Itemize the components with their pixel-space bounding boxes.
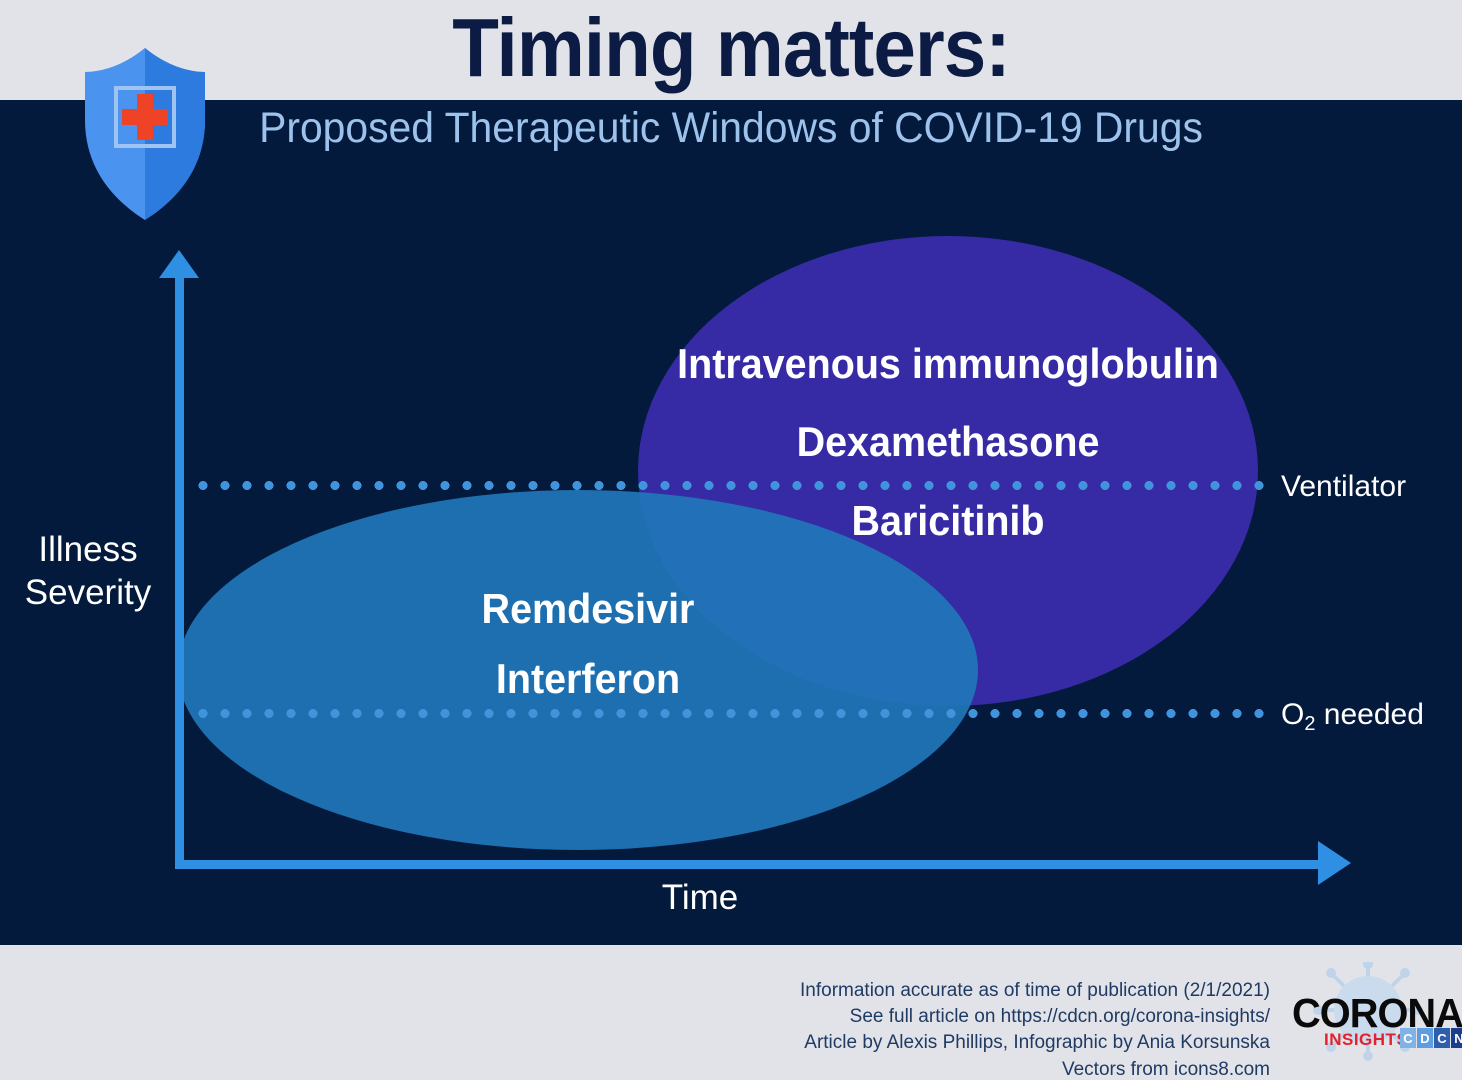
footer-credits: Information accurate as of time of publi… xyxy=(800,978,1270,1080)
logo-badge-n: N xyxy=(1451,1028,1462,1048)
y-axis-title-line2: Severity xyxy=(8,571,168,614)
o2-prefix: O xyxy=(1281,698,1304,731)
credit-line-article-url: See full article on https://cdcn.org/cor… xyxy=(800,1004,1270,1030)
logo-tagline: INSIGHTS xyxy=(1324,1030,1408,1050)
x-axis-line xyxy=(175,860,1321,869)
corona-insights-logo[interactable]: CORONA INSIGHTS C D C N xyxy=(1286,962,1456,1062)
logo-badge-c1: C xyxy=(1400,1028,1416,1048)
y-axis-arrow-icon xyxy=(159,250,199,278)
logo-badge-c2: C xyxy=(1434,1028,1450,1048)
drug-label-dexamethasone: Dexamethasone xyxy=(666,418,1230,466)
threshold-label-o2-needed: O2 needed xyxy=(1281,698,1424,732)
infographic-canvas: Ventilator O2 needed Illness Severity Ti… xyxy=(0,0,1462,1080)
logo-badge-d: D xyxy=(1417,1028,1433,1048)
logo-badges: C D C N xyxy=(1400,1028,1462,1048)
x-axis-arrow-icon xyxy=(1318,841,1351,885)
credit-line-vectors: Vectors from icons8.com xyxy=(800,1057,1270,1080)
credit-line-publication: Information accurate as of time of publi… xyxy=(800,978,1270,1004)
y-axis-title: Illness Severity xyxy=(8,528,168,615)
o2-suffix: needed xyxy=(1315,698,1423,731)
threshold-line-o2-needed xyxy=(192,709,1264,718)
threshold-line-ventilator xyxy=(192,481,1264,490)
drug-label-baricitinib: Baricitinib xyxy=(666,497,1230,545)
credit-line-authors: Article by Alexis Phillips, Infographic … xyxy=(800,1030,1270,1056)
drug-label-remdesivir: Remdesivir xyxy=(306,585,870,633)
drug-label-interferon: Interferon xyxy=(306,655,870,703)
x-axis-title: Time xyxy=(600,878,800,918)
y-axis-title-line1: Illness xyxy=(8,528,168,571)
page-subtitle: Proposed Therapeutic Windows of COVID-19… xyxy=(37,107,1426,150)
shield-medical-cross-icon xyxy=(83,48,207,220)
page-title: Timing matters: xyxy=(58,6,1403,89)
y-axis-line xyxy=(175,272,184,868)
threshold-label-ventilator: Ventilator xyxy=(1281,470,1406,504)
o2-subscript: 2 xyxy=(1304,713,1315,735)
drug-label-intravenous-immunoglobulin: Intravenous immunoglobulin xyxy=(666,340,1230,388)
